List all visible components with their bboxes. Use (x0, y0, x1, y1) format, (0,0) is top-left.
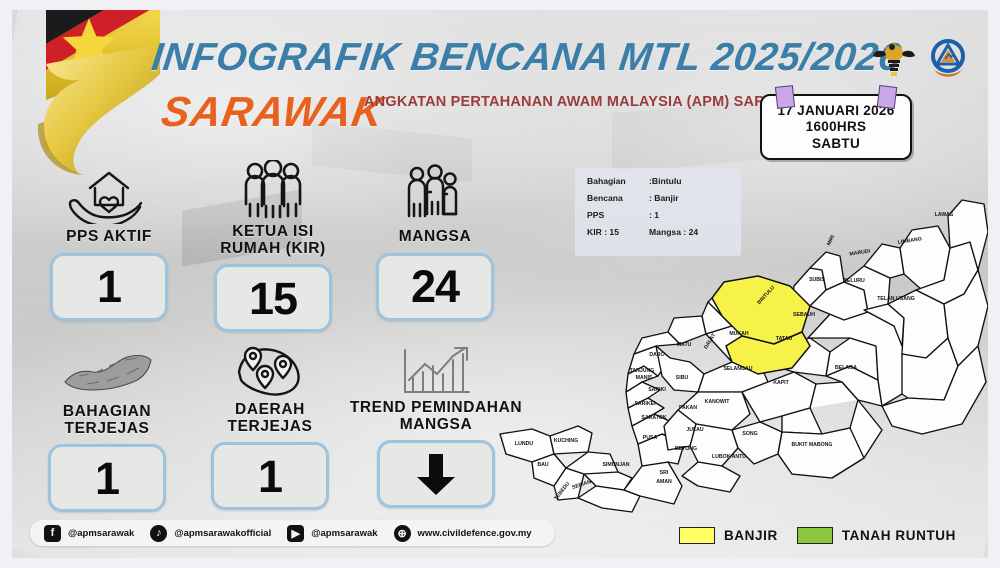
map-label-kuching: KUCHING (554, 438, 578, 444)
youtube-icon[interactable]: ▶ (287, 525, 304, 542)
page-title: INFOGRAFIK BENCANA MTL 2025/2026 (149, 36, 903, 80)
stat-label-pps-aktif: PPS AKTIF (34, 229, 184, 246)
agency-name: ANGKATAN PERTAHANAN AWAM MALAYSIA (APM) … (364, 94, 809, 110)
stat-label-daerah-line2: TERJEJAS (195, 419, 345, 436)
map-label-telan-usang: TELAN USANG (877, 296, 914, 302)
bar-chart-trend-icon (342, 336, 530, 398)
map-legend: BANJIR TANAH RUNTUH (679, 527, 966, 544)
map-label-tanjung: TANJUNG (630, 368, 655, 374)
map-label-matu: MATU (677, 342, 692, 348)
stat-label-kir: KETUA ISI RUMAH (KIR) (198, 224, 348, 257)
map-label-lawas: LAWAS (935, 212, 954, 218)
stat-card-daerah: DAERAH TERJEJAS 1 (195, 338, 345, 510)
map-label-miri: MIRI (826, 234, 836, 247)
stat-card-kir: KETUA ISI RUMAH (KIR) 15 (198, 160, 348, 332)
stat-label-trend: TREND PEMINDAHAN MANGSA (342, 400, 530, 433)
stat-box-mangsa: 24 (376, 253, 494, 321)
map-label-daro: DARO (649, 352, 664, 358)
stat-label-kir-line1: KETUA ISI (198, 224, 348, 241)
arrow-down-icon (413, 451, 459, 497)
sarawak-state-crest-icon (872, 36, 916, 80)
tape-left (775, 85, 795, 109)
sarawak-map-icon (32, 340, 182, 402)
stat-label-bahagian: BAHAGIAN TERJEJAS (32, 404, 182, 437)
stat-label-trend-line1: TREND PEMINDAHAN (342, 400, 530, 417)
stat-box-bahagian: 1 (48, 444, 166, 512)
map-label-selangau: SELANGAU (723, 366, 752, 372)
social-bar: f @apmsarawak ♪ @apmsarawakofficial ▶ @a… (30, 520, 555, 546)
map-label-subis: SUBIS (809, 277, 825, 283)
stat-card-pps-aktif: PPS AKTIF 1 (34, 162, 184, 321)
stat-box-trend (377, 440, 495, 508)
map-label-manis: MANIS (636, 375, 653, 381)
tiktok-icon[interactable]: ♪ (150, 525, 167, 542)
tape-right (877, 85, 898, 109)
map-label-beluru: BELURU (843, 278, 865, 284)
stat-label-kir-line2: RUMAH (KIR) (198, 241, 348, 258)
map-label-kanowit: KANOWIT (705, 399, 731, 405)
stat-label-daerah-line1: DAERAH (195, 402, 345, 419)
map-label-julau: JULAU (686, 427, 704, 433)
map-label-saratok: SARATOK (641, 415, 666, 421)
stat-label-trend-line2: MANGSA (342, 417, 530, 434)
poster-canvas: INFOGRAFIK BENCANA MTL 2025/2026 SARAWAK… (12, 10, 988, 558)
day-value: SABTU (812, 136, 860, 151)
map-label-kapit: KAPIT (773, 380, 789, 386)
stat-value-mangsa: 24 (411, 264, 459, 309)
sarawak-district-map: LUNDUKUCHINGBAUTEBEDUSERIANSIMUNJANSRIAM… (492, 186, 988, 526)
family-icon (360, 162, 510, 224)
map-label-sebauh: SEBAUH (793, 312, 815, 318)
info-key-bahagian: Bahagian (587, 177, 649, 186)
map-label-sibu: SIBU (676, 375, 689, 381)
legend-label-banjir: BANJIR (724, 528, 778, 543)
stat-value-bahagian: 1 (95, 456, 119, 501)
flood-swatch (679, 527, 715, 544)
page-subtitle: SARAWAK (158, 88, 387, 136)
stat-card-trend: TREND PEMINDAHAN MANGSA (342, 336, 530, 508)
time-value: 1600HRS (806, 119, 867, 134)
sarawak-flag-ribbon (18, 10, 160, 176)
stat-box-pps-aktif: 1 (50, 253, 168, 321)
map-label-bukit-mabong: BUKIT MABONG (792, 442, 833, 448)
stat-value-kir: 15 (249, 276, 297, 321)
map-label-song: SONG (742, 431, 757, 437)
stat-label-bahagian-line1: BAHAGIAN (32, 404, 182, 421)
infographic-page: INFOGRAFIK BENCANA MTL 2025/2026 SARAWAK… (0, 0, 1000, 568)
stat-label-mangsa: MANGSA (360, 229, 510, 246)
stat-box-kir: 15 (214, 264, 332, 332)
map-label-pakan: PAKAN (679, 405, 697, 411)
map-label-aman: AMAN (656, 479, 672, 485)
date-card: 17 JANUARI 2026 1600HRS SABTU (760, 94, 912, 160)
facebook-handle: @apmsarawak (68, 528, 134, 539)
map-label-sariki: SARIKI (648, 387, 666, 393)
stat-value-pps-aktif: 1 (97, 264, 121, 309)
map-label-marudi: MARUDI (849, 248, 871, 257)
stat-box-daerah: 1 (211, 442, 329, 510)
website-url: www.civildefence.gov.my (418, 528, 532, 539)
people-group-icon (198, 160, 348, 222)
landslide-swatch (797, 527, 833, 544)
stat-value-daerah: 1 (258, 454, 282, 499)
stat-label-bahagian-line2: TERJEJAS (32, 421, 182, 438)
stat-card-bahagian: BAHAGIAN TERJEJAS 1 (32, 340, 182, 512)
map-pins-icon (195, 338, 345, 400)
legend-label-tanah-runtuh: TANAH RUNTUH (842, 528, 956, 543)
map-label-simunjan: SIMUNJAN (602, 462, 629, 468)
map-label-bau: BAU (537, 462, 548, 468)
map-label-lubok-antu: LUBOK ANTU (712, 454, 746, 460)
info-row-bahagian: Bahagian :Bintulu (587, 177, 729, 186)
info-value-bahagian: :Bintulu (649, 177, 681, 186)
map-label-belaga: BELAGA (835, 365, 857, 371)
tiktok-handle: @apmsarawakofficial (174, 528, 271, 539)
youtube-handle: @apmsarawak (311, 528, 377, 539)
map-label-tatau: TATAU (776, 336, 793, 342)
house-heart-hand-icon (34, 162, 184, 224)
globe-icon[interactable]: ⊕ (394, 525, 411, 542)
apm-civil-defence-logo-icon (926, 36, 970, 80)
map-label-pusa: PUSA (643, 435, 658, 441)
logo-group (872, 36, 970, 80)
map-label-sarikei: SARIKEI (634, 401, 656, 407)
stat-label-daerah: DAERAH TERJEJAS (195, 402, 345, 435)
facebook-icon[interactable]: f (44, 525, 61, 542)
map-label-sri: SRI (660, 470, 669, 476)
stat-card-mangsa: MANGSA 24 (360, 162, 510, 321)
map-label-mukah: MUKAH (729, 331, 749, 337)
map-label-betong: BETONG (675, 446, 697, 452)
